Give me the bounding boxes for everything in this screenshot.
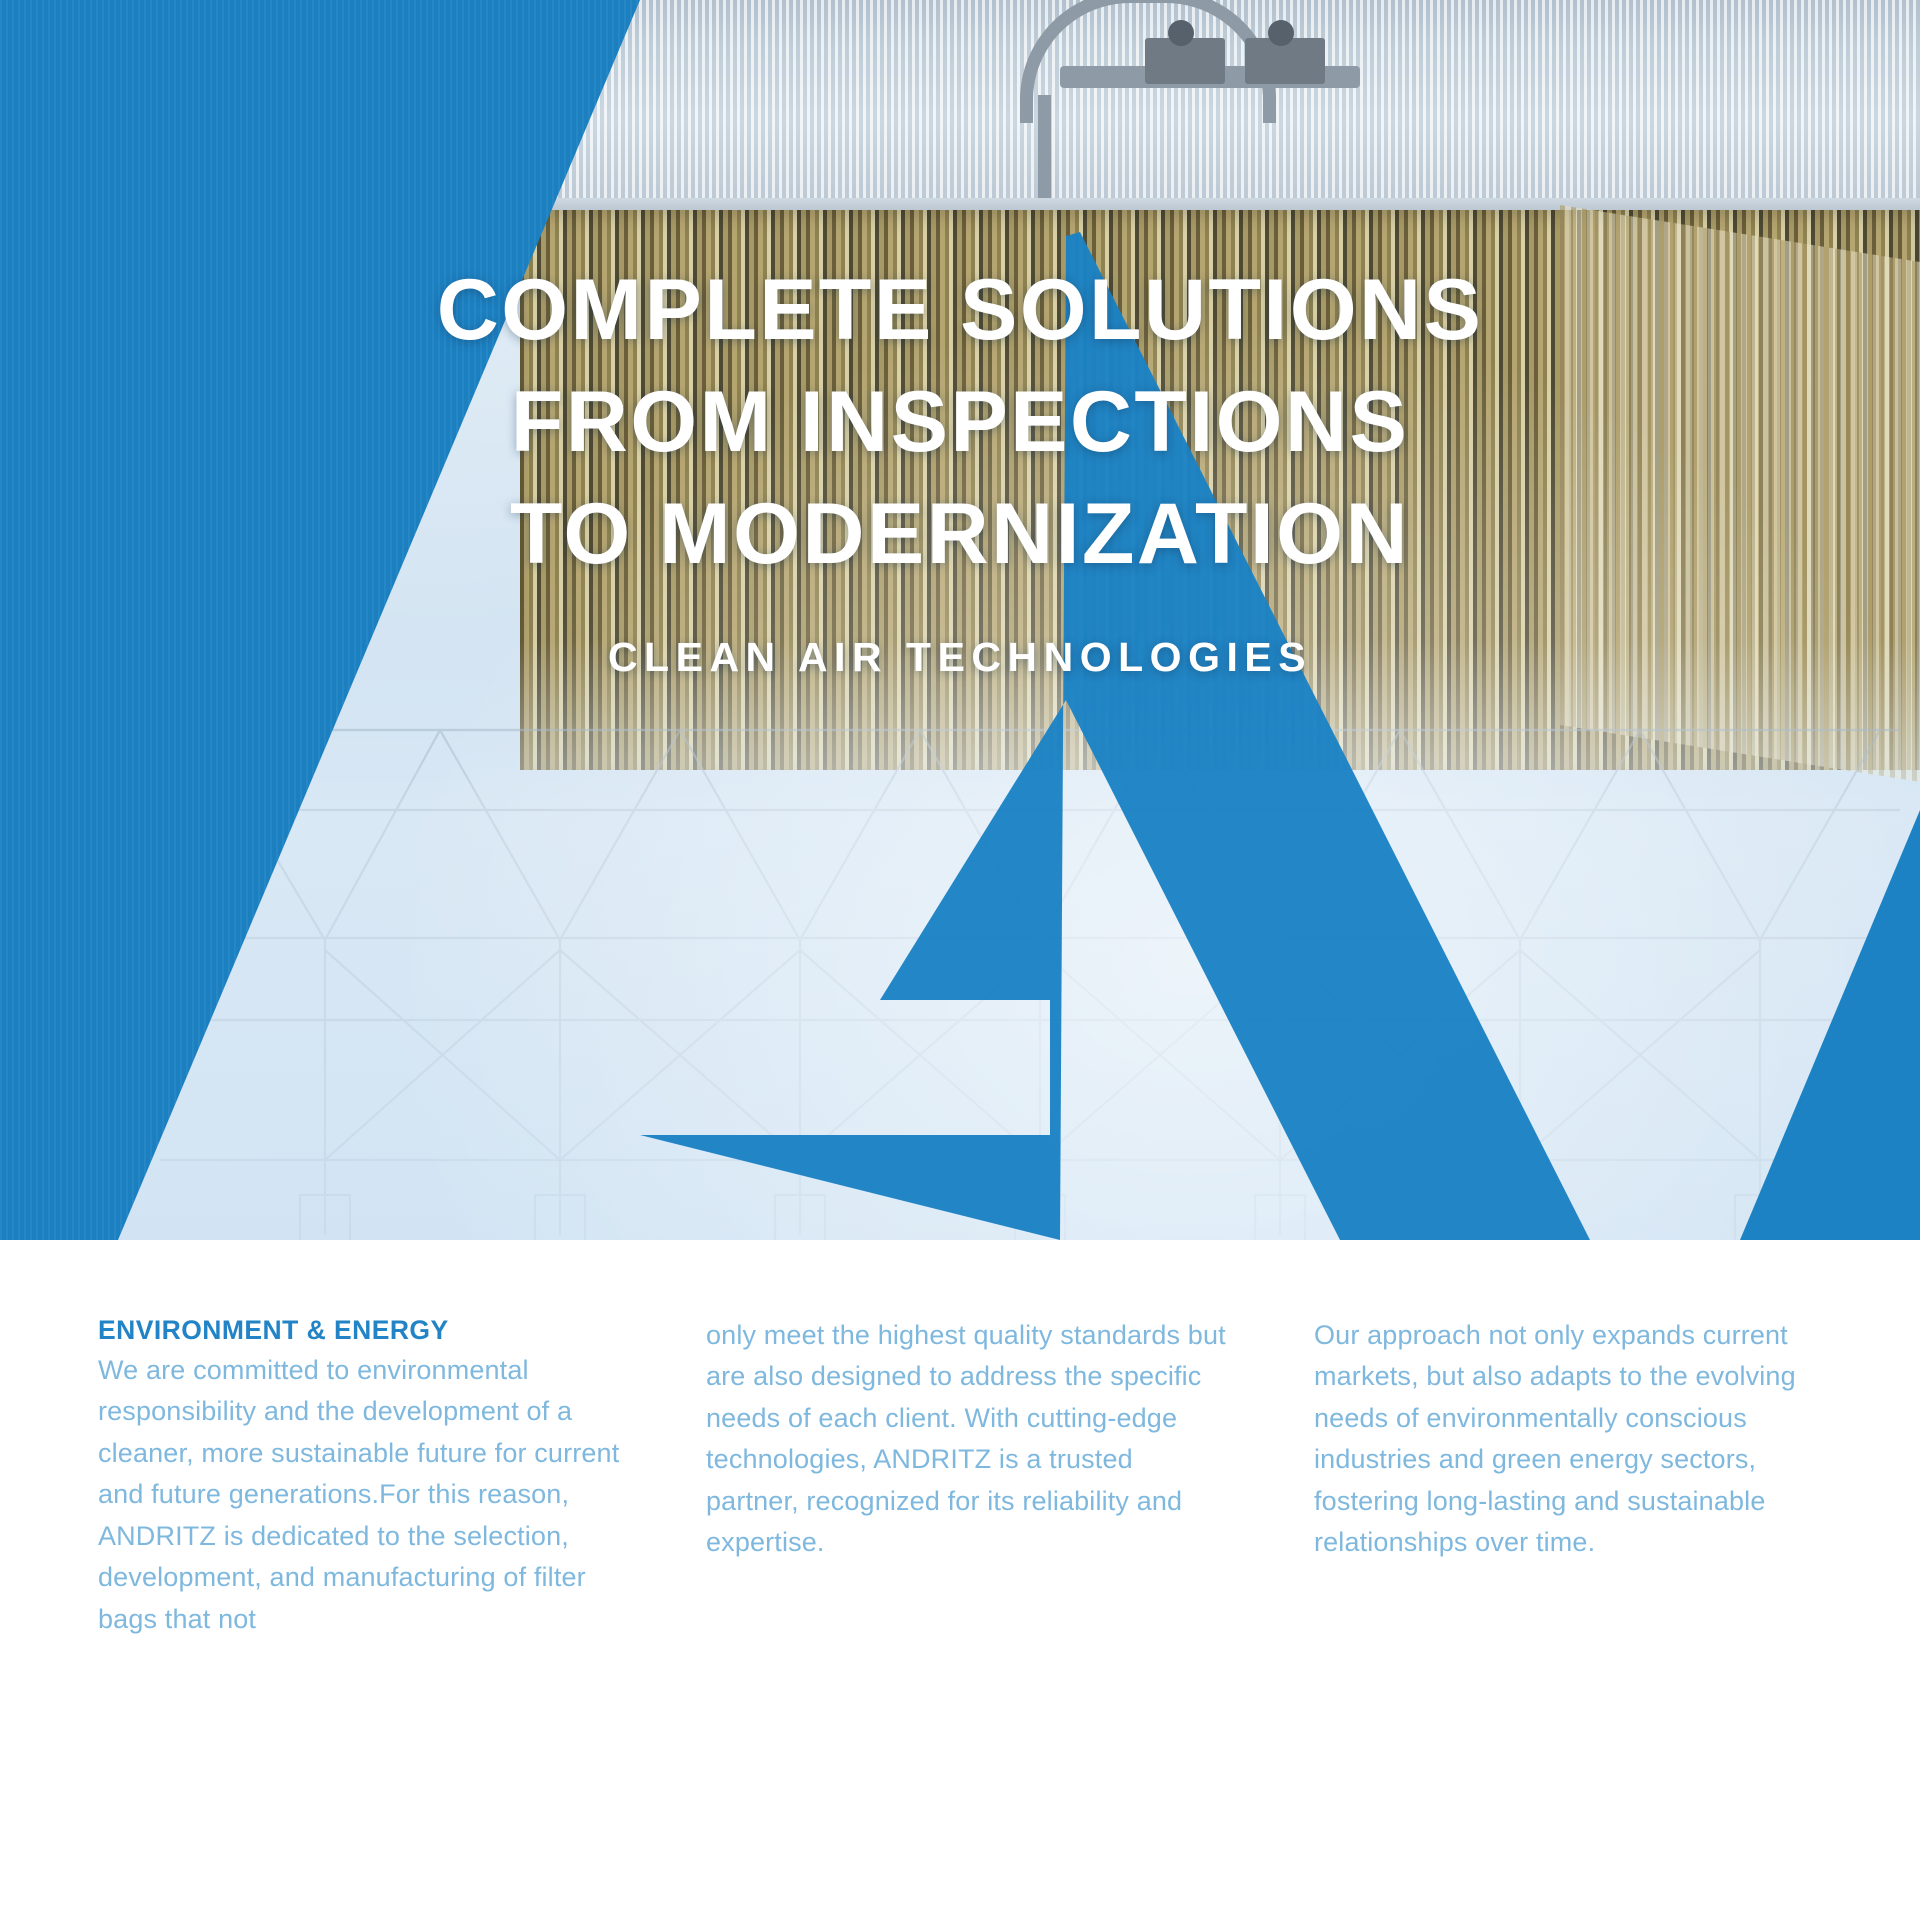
andritz-a-logo-icon xyxy=(600,230,1920,1240)
text-columns: ENVIRONMENT & ENERGY We are committed to… xyxy=(98,1315,1838,1640)
column-1-kicker: ENVIRONMENT & ENERGY xyxy=(98,1315,622,1346)
text-column-1: ENVIRONMENT & ENERGY We are committed to… xyxy=(98,1315,622,1640)
text-column-3: Our approach not only expands current ma… xyxy=(1314,1315,1838,1564)
hero-banner: COMPLETE SOLUTIONS FROM INSPECTIONS TO M… xyxy=(0,0,1920,1240)
column-2-body: only meet the highest quality standards … xyxy=(706,1315,1230,1564)
text-column-2: only meet the highest quality standards … xyxy=(706,1315,1230,1564)
column-3-body: Our approach not only expands current ma… xyxy=(1314,1315,1838,1564)
column-1-body: We are committed to environmental respon… xyxy=(98,1350,622,1640)
content-section: ENVIRONMENT & ENERGY We are committed to… xyxy=(0,1240,1920,1920)
